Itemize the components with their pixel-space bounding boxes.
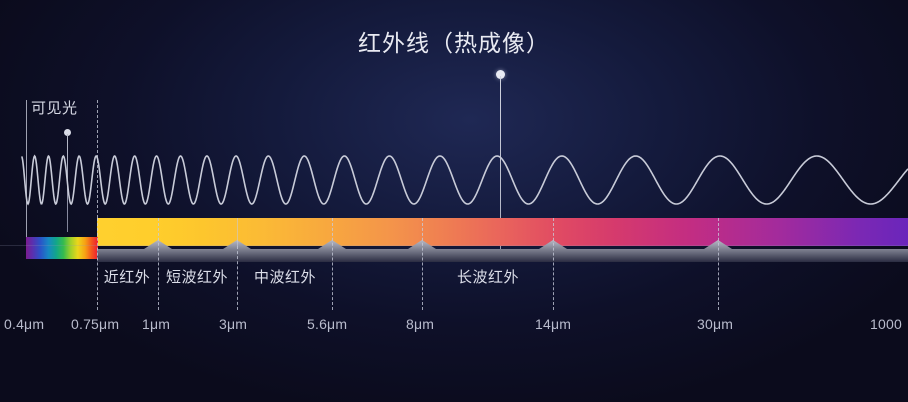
band-label-mwir: 中波红外: [254, 266, 316, 287]
tick-label-30um: 30μm: [697, 316, 733, 332]
axis-baseline: [0, 245, 908, 246]
sep-14um: [553, 218, 554, 310]
sep-8um: [422, 218, 423, 310]
visible-light-label: 可见光: [31, 97, 78, 118]
band-label-near-ir: 近红外: [104, 266, 151, 287]
tick-label-3um: 3μm: [219, 316, 247, 332]
tick-label-14um: 14μm: [535, 316, 571, 332]
tick-label-1um: 1μm: [142, 316, 170, 332]
band-bracket: [0, 240, 908, 262]
sep-1um: [158, 218, 159, 310]
tick-label-8um: 8μm: [406, 316, 434, 332]
sep-3um-dashed: [237, 246, 238, 310]
tick-label-0.75um: 0.75μm: [71, 316, 119, 332]
sep-3um: [237, 218, 238, 246]
wavelength-waveform: [0, 132, 908, 227]
sep-30um: [718, 218, 719, 310]
band-label-lwir: 长波红外: [457, 266, 519, 287]
tick-label-0.4um: 0.4μm: [4, 316, 44, 332]
sep-0.75um: [97, 218, 98, 310]
tick-label-5.6um: 5.6μm: [307, 316, 347, 332]
page-title: 红外线（热成像）: [0, 24, 908, 58]
tick-label-1000um: 1000: [870, 316, 902, 332]
infrared-spectrum-diagram: 红外线（热成像） 可见光 近红外: [0, 0, 908, 402]
sep-5.6um: [332, 218, 333, 310]
band-label-swir: 短波红外: [166, 266, 228, 287]
